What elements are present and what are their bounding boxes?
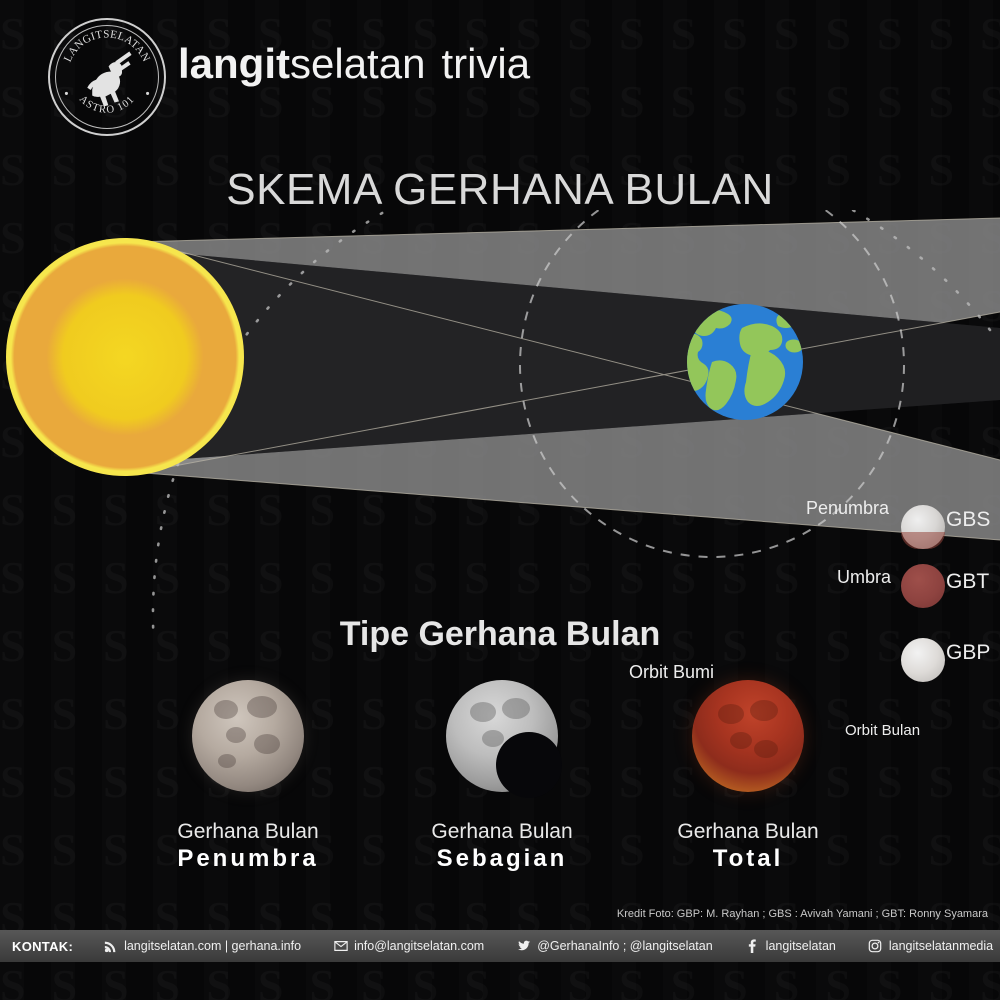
eclipse-type-sebagian: Gerhana Bulan Sebagian — [372, 680, 632, 873]
footer-contact-bar: KONTAK: langitselatan.com | gerhana.info… — [0, 930, 1000, 962]
page-title: SKEMA GERHANA BULAN — [0, 165, 1000, 215]
label-gbs: GBS — [946, 508, 990, 532]
footer-item-email[interactable]: info@langitselatan.com — [317, 939, 500, 954]
footer-item-website[interactable]: langitselatan.com | gerhana.info — [87, 939, 317, 954]
eclipse-type-total: Gerhana Bulan Total — [618, 680, 878, 873]
sun — [6, 238, 244, 476]
moon-gbs — [901, 505, 945, 549]
footer-item-twitter[interactable]: @GerhanaInfo ; @langitselatan — [500, 939, 728, 954]
photo-credit: Kredit Foto: GBP: M. Rayhan ; GBS : Aviv… — [617, 908, 988, 920]
eclipse-type-penumbra: Gerhana Bulan Penumbra — [118, 680, 378, 873]
header: LANGITSELATAN ASTRO 101 langitselatantri… — [0, 0, 1000, 140]
brand-wordmark: langitselatantrivia — [178, 40, 530, 88]
facebook-icon — [745, 939, 760, 954]
label-penumbra: Penumbra — [806, 498, 889, 519]
moon-gbt — [901, 564, 945, 608]
footer-item-label: info@langitselatan.com — [354, 939, 484, 953]
type-label-line1: Gerhana Bulan — [118, 820, 378, 845]
type-label-line2: Total — [618, 845, 878, 873]
moon-photo-total — [692, 680, 804, 792]
type-label-line1: Gerhana Bulan — [372, 820, 632, 845]
section-title-tipe: Tipe Gerhana Bulan — [0, 615, 1000, 654]
footer-item-instagram[interactable]: langitselatanmedia — [852, 939, 1000, 954]
lunar-eclipse-diagram: Penumbra Umbra Orbit Bumi Orbit Bulan GB… — [0, 210, 1000, 630]
moon-photo-penumbra — [192, 680, 304, 792]
footer-item-label: langitselatanmedia — [889, 939, 993, 953]
svg-text:LANGITSELATAN: LANGITSELATAN — [62, 28, 152, 64]
type-label-line2: Sebagian — [372, 845, 632, 873]
brand-trivia: trivia — [441, 40, 530, 87]
brand-langit: langit — [178, 40, 290, 87]
label-umbra: Umbra — [837, 567, 891, 588]
envelope-icon — [333, 939, 348, 954]
footer-item-facebook[interactable]: langitselatan — [729, 939, 852, 954]
footer-kontak-label: KONTAK: — [0, 939, 87, 954]
langitselatan-logo: LANGITSELATAN ASTRO 101 — [48, 18, 166, 136]
moon-photo-sebagian — [446, 680, 558, 792]
rss-icon — [103, 939, 118, 954]
logo-seal-graphic: LANGITSELATAN ASTRO 101 — [50, 20, 164, 134]
type-label-line2: Penumbra — [118, 845, 378, 873]
type-label-line1: Gerhana Bulan — [618, 820, 878, 845]
brand-selatan: selatan — [290, 40, 425, 87]
infographic-canvas: SSSSSSSSSSSSSSSSSSSS SSSSSSSSSSSSSSSSSSS… — [0, 0, 1000, 1000]
footer-item-label: @GerhanaInfo ; @langitselatan — [537, 939, 712, 953]
footer-item-label: langitselatan — [766, 939, 836, 953]
instagram-icon — [868, 939, 883, 954]
twitter-icon — [516, 939, 531, 954]
moon-umbral-shadow — [496, 732, 562, 798]
label-gbt: GBT — [946, 570, 989, 594]
footer-item-label: langitselatan.com | gerhana.info — [124, 939, 301, 953]
